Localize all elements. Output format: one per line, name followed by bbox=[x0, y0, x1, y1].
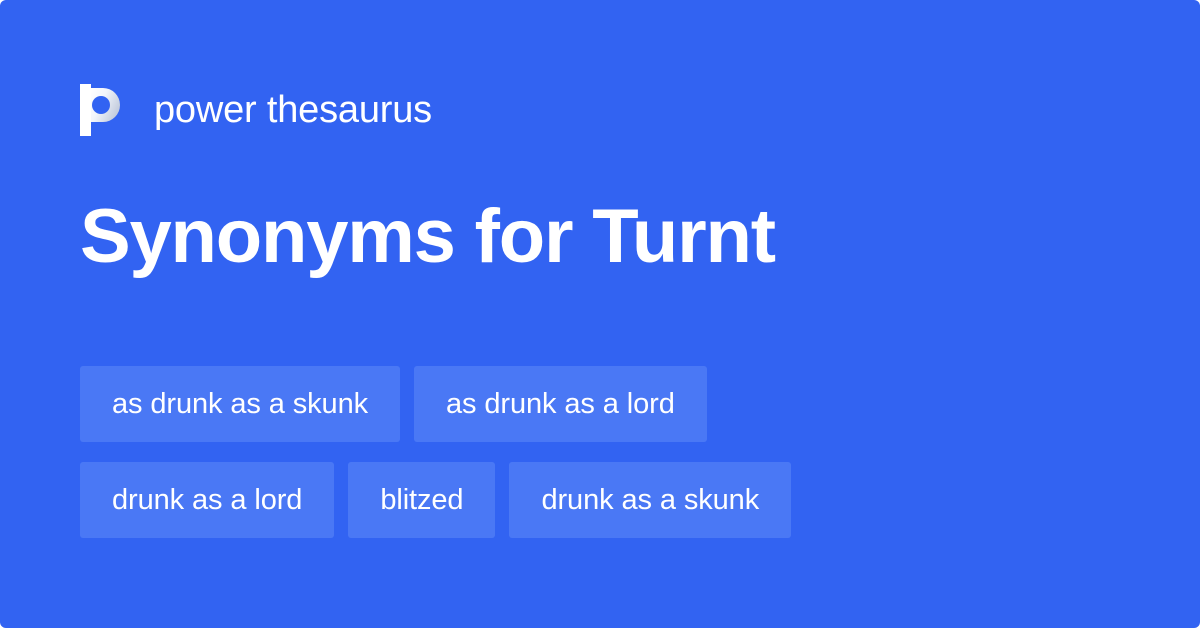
synonym-chip[interactable]: blitzed bbox=[348, 462, 495, 538]
synonym-row: as drunk as a skunk as drunk as a lord bbox=[80, 366, 1120, 442]
synonym-chip[interactable]: drunk as a skunk bbox=[509, 462, 791, 538]
brand-name: power thesaurus bbox=[154, 91, 432, 129]
page-title: Synonyms for Turnt bbox=[80, 196, 775, 278]
brand-header[interactable]: power thesaurus bbox=[80, 82, 432, 138]
synonym-chip[interactable]: drunk as a lord bbox=[80, 462, 334, 538]
synonym-row: drunk as a lord blitzed drunk as a skunk bbox=[80, 462, 1120, 538]
synonym-chip[interactable]: as drunk as a lord bbox=[414, 366, 707, 442]
power-thesaurus-b-logo-icon bbox=[80, 84, 126, 136]
synonym-chip-list: as drunk as a skunk as drunk as a lord d… bbox=[80, 366, 1120, 538]
synonym-chip[interactable]: as drunk as a skunk bbox=[80, 366, 400, 442]
synonyms-share-card: power thesaurus Synonyms for Turnt as dr… bbox=[0, 0, 1200, 628]
